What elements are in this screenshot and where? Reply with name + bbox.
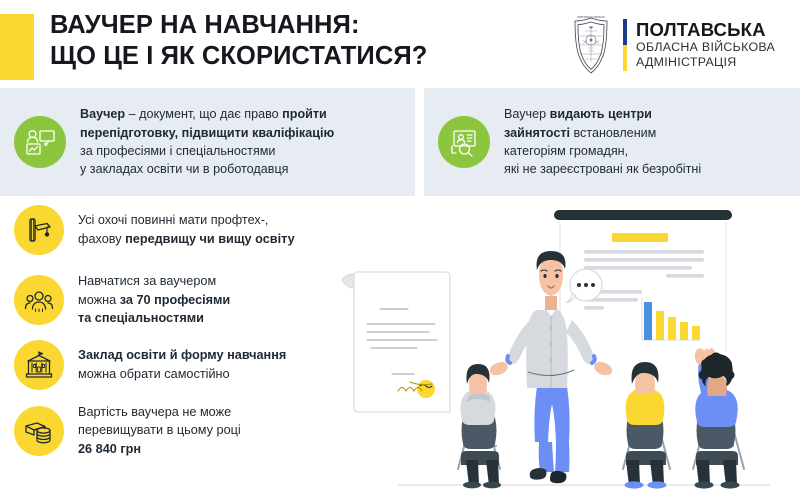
- seated-student-yellow: [623, 362, 670, 489]
- info-panels: Ваучер – документ, що дає право пройтипе…: [0, 88, 800, 196]
- title-line-1: ВАУЧЕР НА НАВЧАННЯ:: [50, 10, 520, 41]
- logo-divider-bar: [623, 19, 627, 71]
- education-building-icon: [14, 340, 64, 390]
- certificate-document-with-seal: [342, 272, 450, 412]
- bullet-voucher-cost: Вартість ваучера не можеперевищувати в ц…: [14, 403, 359, 459]
- training-presentation-icon: [14, 116, 66, 168]
- panel-text-voucher-issuer: Ваучер видають центризайнятості встановл…: [504, 105, 701, 178]
- bullet-text-institution-choice: Заклад освіти й форму навчанняможна обра…: [78, 346, 286, 383]
- board-title-highlight: [612, 233, 668, 242]
- seated-student-grey: [458, 364, 501, 488]
- page-title: ВАУЧЕР НА НАВЧАННЯ: ЩО ЦЕ І ЯК СКОРИСТАТ…: [50, 10, 520, 72]
- seated-student-blue: [693, 348, 744, 489]
- logo-line-3: АДМІНІСТРАЦІЯ: [636, 55, 775, 70]
- info-panel-voucher-issuer: Ваучер видають центризайнятості встановл…: [424, 88, 800, 196]
- header: ВАУЧЕР НА НАВЧАННЯ: ЩО ЦЕ І ЯК СКОРИСТАТ…: [0, 0, 800, 88]
- logo-text: ПОЛТАВСЬКА ОБЛАСНА ВІЙСЬКОВА АДМІНІСТРАЦ…: [636, 20, 775, 70]
- standing-presenter: [490, 251, 612, 483]
- organization-logo: ПОЛТАВСЬКА ОБЛАСТЬ ПОЛТАВСЬКА ОБЛАСНА ВІ…: [565, 10, 795, 80]
- graduation-cap-diploma-icon: [14, 205, 64, 255]
- classroom-training-illustration: [340, 196, 800, 500]
- bullet-institution-choice: Заклад освіти й форму навчанняможна обра…: [14, 340, 359, 390]
- people-group-icon: [14, 275, 64, 325]
- title-line-2: ЩО ЦЕ І ЯК СКОРИСТАТИСЯ?: [50, 41, 520, 72]
- bullet-text-professions-count: Навчатися за ваучеромможна за 70 професі…: [78, 272, 230, 328]
- money-cash-coins-icon: [14, 406, 64, 456]
- poltava-coat-of-arms-icon: ПОЛТАВСЬКА ОБЛАСТЬ: [565, 14, 617, 76]
- bullet-text-education-requirement: Усі охочі повинні мати профтех-,фахову п…: [78, 211, 295, 248]
- logo-line-2: ОБЛАСНА ВІЙСЬКОВА: [636, 40, 775, 55]
- certificate-seal: [417, 380, 435, 398]
- bullet-text-voucher-cost: Вартість ваучера не можеперевищувати в ц…: [78, 403, 241, 459]
- bullet-professions-count: Навчатися за ваучеромможна за 70 професі…: [14, 272, 359, 328]
- panel-text-voucher-definition: Ваучер – документ, що дає право пройтипе…: [80, 105, 334, 178]
- svg-text:ПОЛТАВСЬКА ОБЛАСТЬ: ПОЛТАВСЬКА ОБЛАСТЬ: [577, 16, 605, 19]
- logo-line-1: ПОЛТАВСЬКА: [636, 20, 775, 40]
- info-panel-voucher-definition: Ваучер – документ, що дає право пройтипе…: [0, 88, 415, 196]
- bullet-list: Усі охочі повинні мати профтех-,фахову п…: [14, 205, 359, 470]
- id-card-search-icon: [438, 116, 490, 168]
- title-accent-block: [0, 14, 34, 80]
- bullet-education-requirement: Усі охочі повинні мати профтех-,фахову п…: [14, 205, 359, 255]
